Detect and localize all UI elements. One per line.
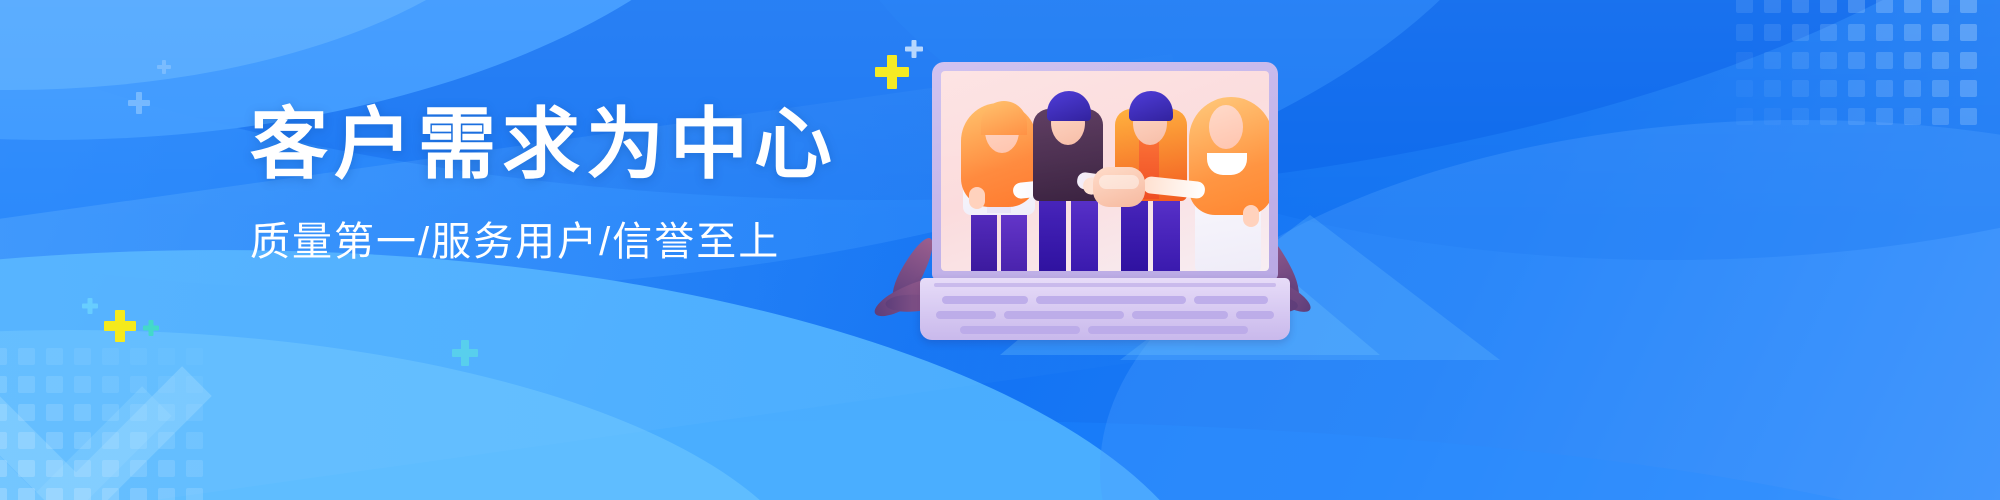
laptop-base	[920, 278, 1290, 340]
plus-white-left-icon-2	[157, 60, 171, 74]
banner-text-block: 客户需求为中心 质量第一/服务用户/信誉至上	[250, 105, 838, 267]
plus-yellow-large-bottom-icon	[104, 310, 136, 342]
plus-yellow-large-top-icon	[875, 55, 909, 89]
plus-cyan-tiny-bottom-icon	[82, 298, 98, 314]
stacked-hands-highlight	[1099, 175, 1139, 189]
laptop-lid	[932, 62, 1278, 280]
plus-white-left-icon-1	[128, 92, 150, 114]
person-woman-white-dress	[1185, 91, 1269, 271]
banner-subheadline: 质量第一/服务用户/信誉至上	[250, 209, 838, 267]
laptop-screen	[941, 71, 1269, 271]
plus-white-small-top-icon	[905, 40, 923, 58]
plus-cyan-center-icon	[452, 340, 478, 366]
dot-grid-bottom-left-icon	[0, 348, 220, 500]
banner-headline: 客户需求为中心	[250, 105, 838, 183]
plus-cyan-small-bottom-icon	[143, 320, 159, 336]
promo-banner: 客户需求为中心 质量第一/服务用户/信誉至上	[0, 0, 2000, 500]
laptop-illustration	[920, 62, 1290, 340]
dot-grid-top-right-icon	[1736, 0, 1986, 106]
